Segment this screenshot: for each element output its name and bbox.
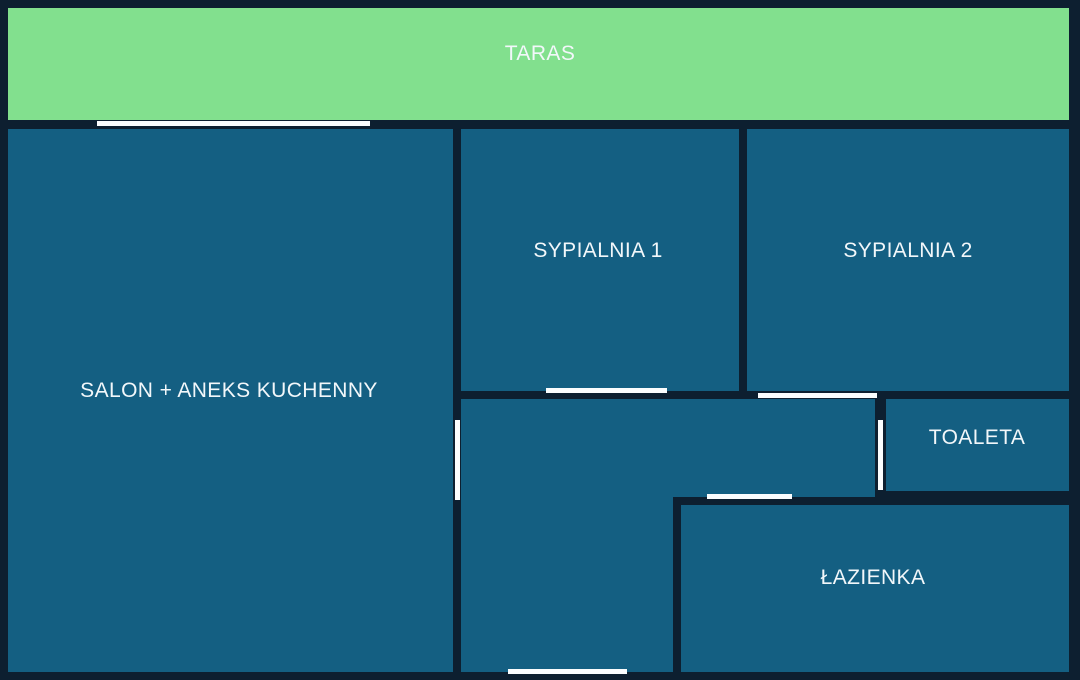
wall-outer-right [1069,0,1080,680]
room-lazienka[interactable] [681,505,1069,673]
wall-bedroom-divider [739,120,747,399]
opening-toaleta-door[interactable] [878,420,883,490]
room-taras[interactable] [7,7,1069,121]
wall-outer-left [0,0,8,680]
room-sypialnia-2[interactable] [747,128,1069,393]
wall-outer-top [0,0,1080,8]
opening-salon-door[interactable] [455,420,460,500]
opening-lazienka-door[interactable] [707,494,792,499]
room-sypialnia-1[interactable] [461,128,741,393]
room-toaleta[interactable] [886,399,1069,491]
opening-sypialnia-1-door[interactable] [546,388,667,393]
opening-entrance-door[interactable] [508,669,627,674]
wall-salon-right [453,120,461,680]
floor-plan-canvas: TARASSALON + ANEKS KUCHENNYSYPIALNIA 1SY… [0,0,1080,680]
opening-terrace-door[interactable] [97,121,370,126]
wall-lazienka-left [673,497,681,680]
opening-sypialnia-2-door[interactable] [758,393,877,398]
room-salon[interactable] [7,128,455,673]
